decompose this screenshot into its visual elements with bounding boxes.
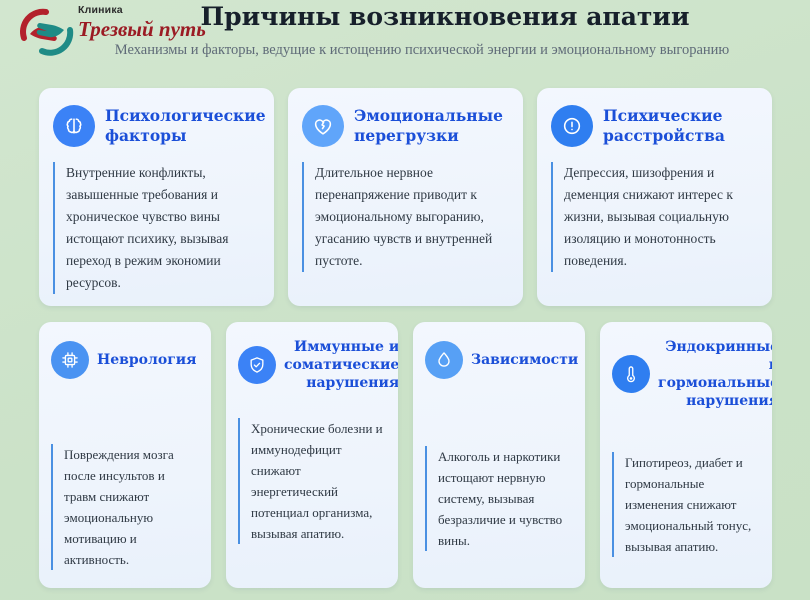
card-emotional-overload: Эмоциональные перегрузки Длительное нерв… (288, 88, 523, 306)
card-header: Психические расстройства (551, 104, 758, 148)
card-header: Неврология (51, 338, 199, 382)
card-body-text: Гипотиреоз, диабет и гормональные измене… (612, 452, 760, 557)
thermometer-icon (612, 355, 650, 393)
card-body-text: Хронические болезни и иммунодефицит сниж… (238, 418, 386, 544)
water-drop-icon (425, 341, 463, 379)
page-subtitle: Механизмы и факторы, ведущие к истощению… (0, 40, 810, 60)
card-header: Иммунные и соматические нарушения (238, 338, 386, 392)
card-psychological-factors: Психологические факторы Внутренние конфл… (39, 88, 274, 306)
card-title: Зависимости (471, 351, 578, 369)
card-body-text: Внутренние конфликты, завышенные требова… (53, 162, 262, 294)
page-header: Клиника Трезвый путь Причины возникновен… (0, 0, 810, 72)
card-row-top: Психологические факторы Внутренние конфл… (39, 88, 772, 306)
card-title: Неврология (97, 351, 197, 369)
infographic-page: Клиника Трезвый путь Причины возникновен… (0, 0, 810, 600)
card-title: Психические расстройства (603, 106, 758, 146)
card-row-bottom: Неврология Повреждения мозга после инсул… (39, 322, 772, 588)
brain-icon (53, 105, 95, 147)
shield-check-icon (238, 346, 276, 384)
card-title: Иммунные и соматические нарушения (284, 338, 398, 392)
page-title: Причины возникновения апатии (0, 2, 810, 32)
card-endocrine-hormonal: Эндокринные и гормональные нарушения Гип… (600, 322, 772, 588)
card-immune-somatic: Иммунные и соматические нарушения Хронич… (226, 322, 398, 588)
card-body-text: Повреждения мозга после инсультов и трав… (51, 444, 199, 570)
card-title: Психологические факторы (105, 106, 266, 146)
alert-circle-icon (551, 105, 593, 147)
card-header: Зависимости (425, 338, 573, 382)
card-body-text: Алкоголь и наркотики истощают нервную си… (425, 446, 573, 551)
card-header: Эмоциональные перегрузки (302, 104, 509, 148)
card-mental-disorders: Психические расстройства Депрессия, шизо… (537, 88, 772, 306)
cpu-chip-icon (51, 341, 89, 379)
card-header: Психологические факторы (53, 104, 260, 148)
card-addictions: Зависимости Алкоголь и наркотики истощаю… (413, 322, 585, 588)
card-neurology: Неврология Повреждения мозга после инсул… (39, 322, 211, 588)
card-title: Эндокринные и гормональные нарушения (658, 338, 772, 410)
card-header: Эндокринные и гормональные нарушения (612, 338, 760, 410)
card-body-text: Длительное нервное перенапряжение привод… (302, 162, 511, 272)
card-title: Эмоциональные перегрузки (354, 106, 509, 146)
card-body-text: Депрессия, шизофрения и деменция снижают… (551, 162, 760, 272)
broken-heart-icon (302, 105, 344, 147)
